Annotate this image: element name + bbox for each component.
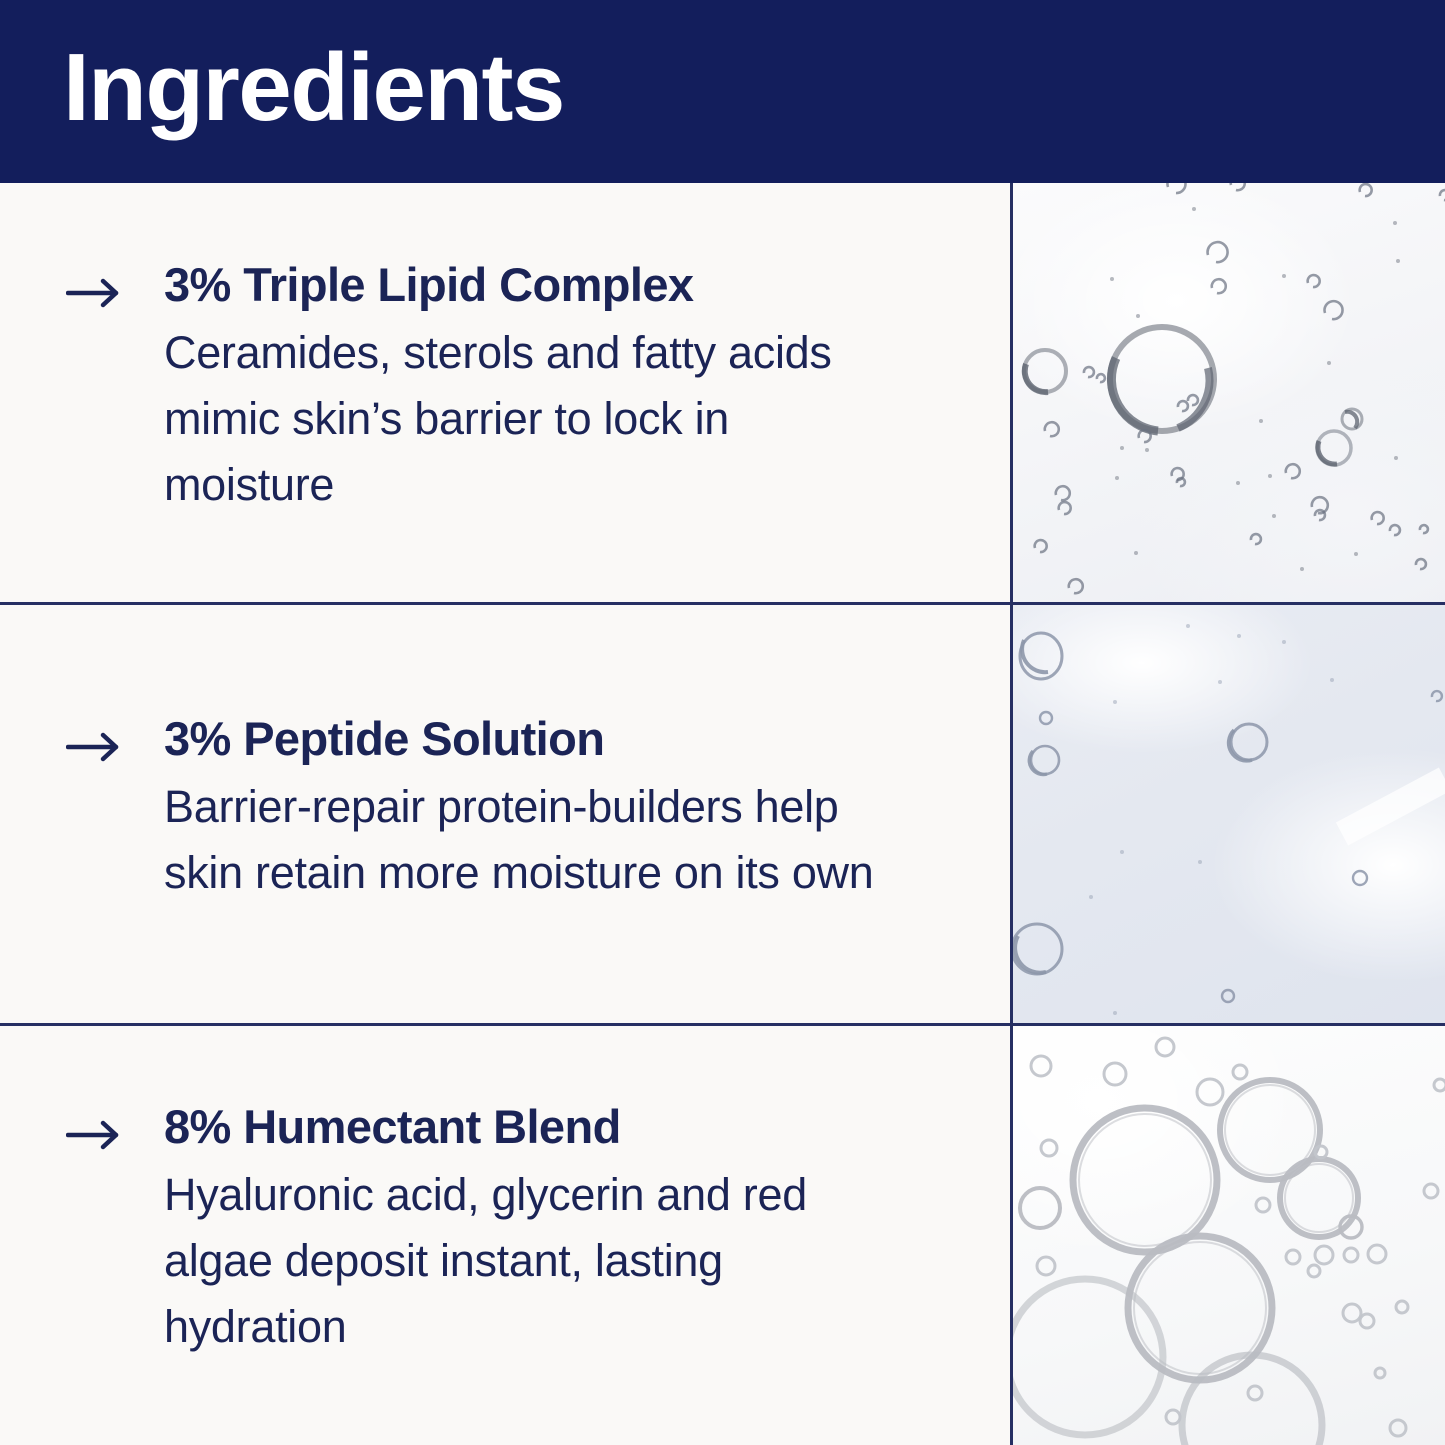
page-title: Ingredients	[63, 40, 564, 136]
column-divider	[1010, 183, 1013, 1445]
ingredient-title: 3% Triple Lipid Complex	[164, 258, 894, 313]
arrow-right-icon	[66, 278, 122, 308]
ingredient-row: 8% Humectant Blend Hyaluronic acid, glyc…	[0, 1025, 1445, 1445]
arrow-right-icon	[66, 1120, 122, 1150]
bubble-overlay	[1012, 183, 1445, 604]
ingredient-description: Ceramides, sterols and fatty acids mimic…	[164, 320, 894, 517]
row-divider	[0, 1023, 1445, 1026]
ingredient-copy: 8% Humectant Blend Hyaluronic acid, glyc…	[164, 1100, 894, 1360]
ingredient-image-peptide	[1012, 604, 1445, 1025]
arrow-right-icon	[66, 732, 122, 762]
ingredient-row: 3% Triple Lipid Complex Ceramides, stero…	[0, 183, 1445, 604]
ingredient-title: 3% Peptide Solution	[164, 712, 894, 767]
ingredient-text-cell: 8% Humectant Blend Hyaluronic acid, glyc…	[0, 1025, 1012, 1445]
ingredient-description: Barrier-repair protein-builders help ski…	[164, 774, 894, 905]
bubble-overlay	[1012, 604, 1445, 1025]
ingredient-text-cell: 3% Peptide Solution Barrier-repair prote…	[0, 604, 1012, 1025]
bubble-overlay	[1012, 1025, 1445, 1445]
ingredient-title: 8% Humectant Blend	[164, 1100, 894, 1155]
header-bar: Ingredients	[0, 0, 1445, 183]
ingredient-description: Hyaluronic acid, glycerin and red algae …	[164, 1162, 894, 1359]
ingredient-image-humectant	[1012, 1025, 1445, 1445]
ingredients-grid: 3% Triple Lipid Complex Ceramides, stero…	[0, 183, 1445, 1445]
ingredient-row: 3% Peptide Solution Barrier-repair prote…	[0, 604, 1445, 1025]
row-divider	[0, 602, 1445, 605]
ingredient-copy: 3% Peptide Solution Barrier-repair prote…	[164, 712, 894, 906]
ingredient-text-cell: 3% Triple Lipid Complex Ceramides, stero…	[0, 183, 1012, 604]
ingredient-copy: 3% Triple Lipid Complex Ceramides, stero…	[164, 258, 894, 518]
ingredient-image-lipid	[1012, 183, 1445, 604]
ingredients-infographic: Ingredients 3% Triple Lipid Complex Cera…	[0, 0, 1445, 1445]
